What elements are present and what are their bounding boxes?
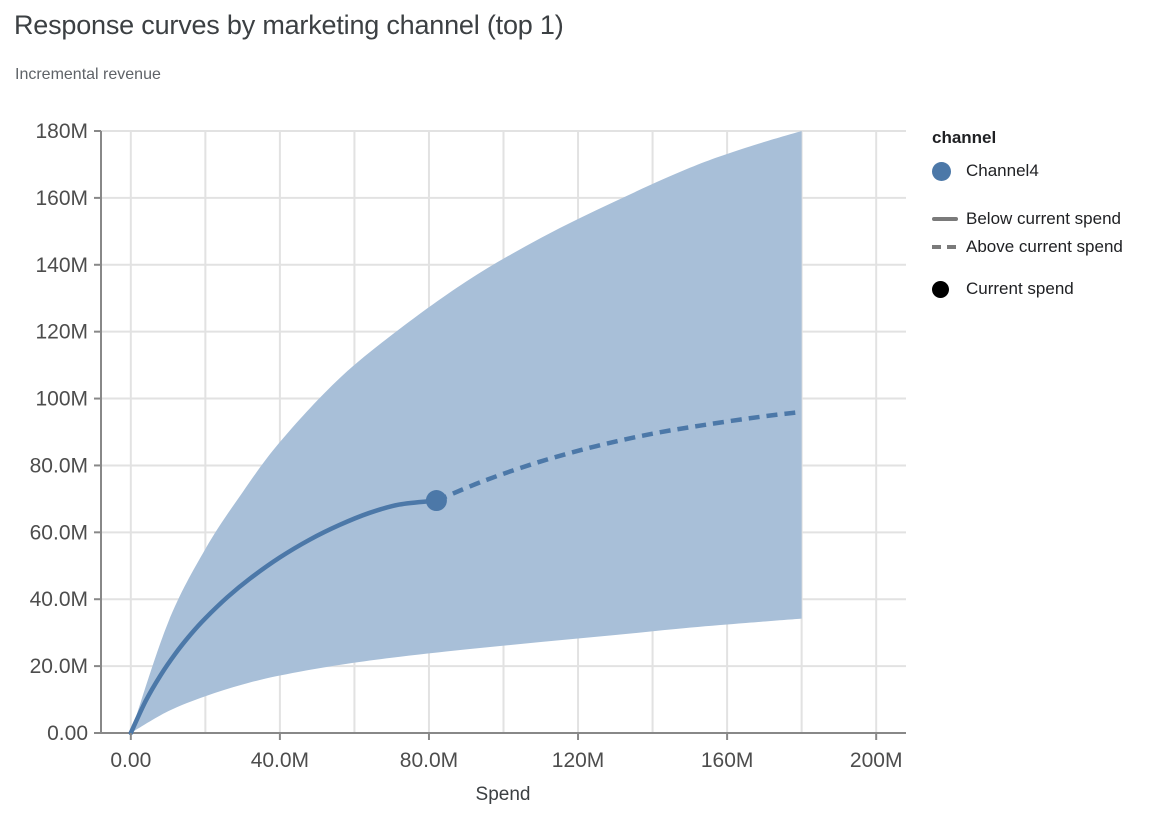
dashed-line-icon (932, 245, 966, 249)
y-tick-label: 20.0M (30, 655, 88, 678)
legend-item-label: Above current spend (966, 237, 1123, 257)
x-tick-label: 160M (701, 749, 754, 772)
chart-page: Response curves by marketing channel (to… (0, 0, 1164, 814)
x-tick-label: 120M (552, 749, 605, 772)
legend-spacer (932, 186, 1162, 206)
legend-item-current-spend[interactable]: Current spend (932, 276, 1162, 302)
y-tick-label: 80.0M (30, 454, 88, 477)
legend-spacer (932, 262, 1162, 276)
y-tick-label: 180M (35, 120, 88, 143)
y-tick-label: 0.00 (47, 722, 88, 745)
legend-item-label: Channel4 (966, 161, 1039, 181)
legend-title: channel (932, 128, 1162, 148)
legend-item-below-current-spend[interactable]: Below current spend (932, 206, 1162, 232)
x-axis-title: Spend (476, 784, 531, 805)
y-tick-label: 120M (35, 321, 88, 344)
x-tick-label: 0.00 (110, 749, 151, 772)
solid-line-icon (932, 217, 966, 221)
legend-item-label: Below current spend (966, 209, 1121, 229)
channel-color-dot-icon (932, 162, 966, 181)
x-tick-label: 40.0M (251, 749, 309, 772)
legend-item-label: Current spend (966, 279, 1074, 299)
y-tick-label: 160M (35, 187, 88, 210)
y-tick-label: 140M (35, 254, 88, 277)
current-spend-marker[interactable] (426, 490, 447, 511)
y-tick-label: 100M (35, 388, 88, 411)
y-tick-label: 60.0M (30, 521, 88, 544)
legend: channel Channel4 Below current spend Abo… (932, 128, 1162, 304)
legend-item-above-current-spend[interactable]: Above current spend (932, 234, 1162, 260)
black-dot-icon (932, 281, 966, 298)
response-curve-chart: 0.0020.0M40.0M60.0M80.0M100M120M140M160M… (0, 0, 1164, 814)
uncertainty-band (131, 131, 802, 733)
legend-item-channel4[interactable]: Channel4 (932, 158, 1162, 184)
y-tick-label: 40.0M (30, 588, 88, 611)
x-tick-label: 200M (850, 749, 903, 772)
x-tick-label: 80.0M (400, 749, 458, 772)
